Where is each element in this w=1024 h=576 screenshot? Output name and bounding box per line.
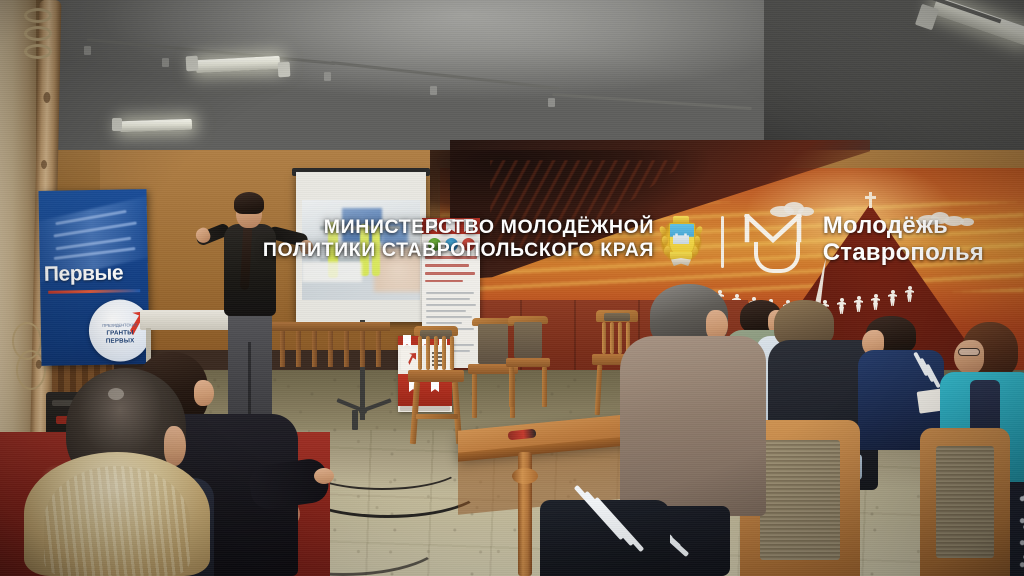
stavropol-coat-of-arms-icon: [660, 212, 702, 268]
vertical-divider: [721, 216, 724, 268]
brand-wordmark: Молодёжь Ставрополья: [823, 212, 984, 266]
ministry-title-line2: ПОЛИТИКИ СТАВРОПОЛЬСКОГО КРАЯ: [263, 239, 654, 262]
screenshot-root: Первые ПРЕЗИДЕНТСКИЕ ГРАНТЫ ПЕРВЫХ: [0, 0, 1024, 576]
brand-line1: Молодёжь: [823, 212, 984, 239]
header-overlay: МИНИСТЕРСТВО МОЛОДЁЖНОЙ ПОЛИТИКИ СТАВРОП…: [0, 104, 1024, 168]
ministry-title-line1: МИНИСТЕРСТВО МОЛОДЁЖНОЙ: [263, 216, 654, 239]
brand-line2: Ставрополья: [823, 239, 984, 266]
ministry-title: МИНИСТЕРСТВО МОЛОДЁЖНОЙ ПОЛИТИКИ СТАВРОП…: [263, 216, 654, 262]
audience-blonde-woman: [24, 452, 210, 576]
molodezh-monogram-icon: [744, 214, 802, 270]
presenter-hair: [234, 192, 264, 214]
